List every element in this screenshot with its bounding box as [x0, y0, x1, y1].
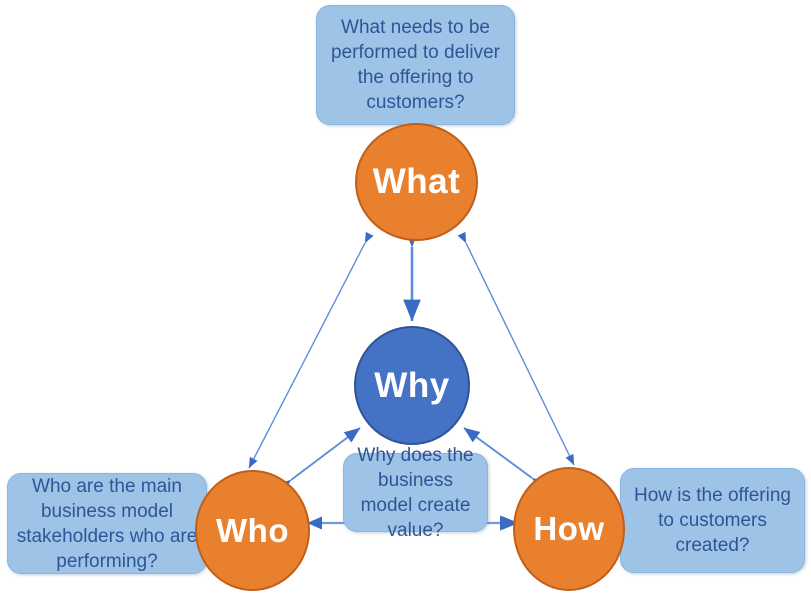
question-box-what[interactable]: What needs to be performed to deliver th… [316, 5, 515, 125]
node-who-label: Who [216, 512, 289, 550]
node-why[interactable]: Why [354, 326, 470, 445]
question-box-who-text: Who are the main business model stakehol… [16, 474, 198, 574]
question-box-how-text: How is the offering to customers created… [629, 483, 796, 558]
question-box-who[interactable]: Who are the main business model stakehol… [7, 473, 207, 574]
connector-what-who [249, 243, 365, 468]
node-why-label: Why [374, 366, 449, 406]
diagram-canvas: What needs to be performed to deliver th… [0, 0, 811, 595]
node-what-label: What [373, 162, 461, 202]
node-who[interactable]: Who [195, 470, 310, 591]
question-box-how[interactable]: How is the offering to customers created… [620, 468, 805, 573]
question-box-why[interactable]: Why does the business model create value… [343, 453, 488, 532]
node-how-label: How [533, 510, 604, 548]
connector-what-how [466, 243, 574, 465]
node-how[interactable]: How [513, 467, 625, 591]
question-box-what-text: What needs to be performed to deliver th… [325, 15, 506, 115]
node-what[interactable]: What [355, 123, 478, 241]
question-box-why-text: Why does the business model create value… [352, 443, 479, 543]
